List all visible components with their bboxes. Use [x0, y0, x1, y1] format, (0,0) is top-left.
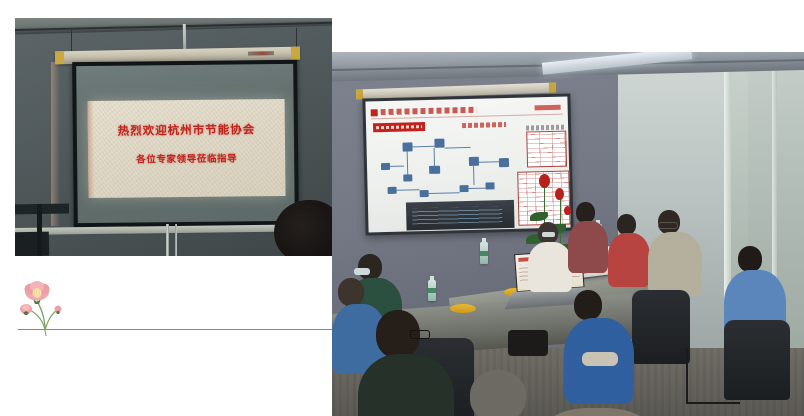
- slide-title-text: [381, 107, 477, 115]
- page-canvas: 热烈欢迎杭州市节能协会 各位专家领导莅临指导: [0, 0, 804, 416]
- projected-slide-area: 热烈欢迎杭州市节能协会 各位专家领导莅临指导: [87, 98, 285, 197]
- slide-edge-glow: [87, 100, 94, 197]
- screen-hanger-wire: [71, 30, 72, 52]
- roller-end-cap-right: [549, 83, 556, 93]
- slide-header: [371, 105, 563, 120]
- power-cable: [688, 402, 740, 404]
- roller-end-cap-right: [291, 47, 300, 60]
- power-cable: [686, 348, 688, 404]
- wall-column: [183, 24, 186, 52]
- slide-table-caption: [526, 125, 564, 131]
- flower-icon: [15, 268, 85, 338]
- water-bottle: [480, 242, 488, 264]
- roller-label: [248, 51, 274, 55]
- slide-logo-icon: [371, 109, 378, 116]
- wall-post: [37, 204, 42, 256]
- projection-screen-frame: 热烈欢迎杭州市节能协会 各位专家领导莅临指导: [72, 60, 299, 227]
- slide-dark-panel: [406, 200, 515, 231]
- slide-data-table-top: [526, 131, 567, 168]
- slide-welcome-line-1: 热烈欢迎杭州市节能协会: [88, 121, 286, 139]
- photo-meeting-room: [332, 52, 804, 416]
- water-bottle: [428, 280, 436, 301]
- office-chair: [632, 290, 690, 364]
- handbag: [508, 330, 548, 356]
- screen-support-pole: [175, 224, 177, 256]
- slide-corner-tag: [535, 105, 561, 111]
- slide-welcome-line-2: 各位专家领导莅临指导: [88, 150, 286, 166]
- screen-support-pole: [166, 224, 169, 256]
- slide-section-badge: [373, 122, 425, 132]
- office-chair: [724, 320, 790, 400]
- process-flow-diagram: [372, 134, 524, 210]
- slide-subtitle-text: [462, 122, 506, 128]
- projection-screen-surface: 热烈欢迎杭州市节能协会 各位专家领导莅临指导: [76, 64, 295, 223]
- floral-divider: [15, 268, 335, 338]
- wall-trim-lower: [15, 232, 49, 256]
- fruit-plate: [450, 304, 476, 313]
- light-flare: [51, 62, 60, 226]
- shoe: [582, 352, 618, 366]
- photo-projector-slide: 热烈欢迎杭州市节能协会 各位专家领导莅临指导: [15, 18, 332, 256]
